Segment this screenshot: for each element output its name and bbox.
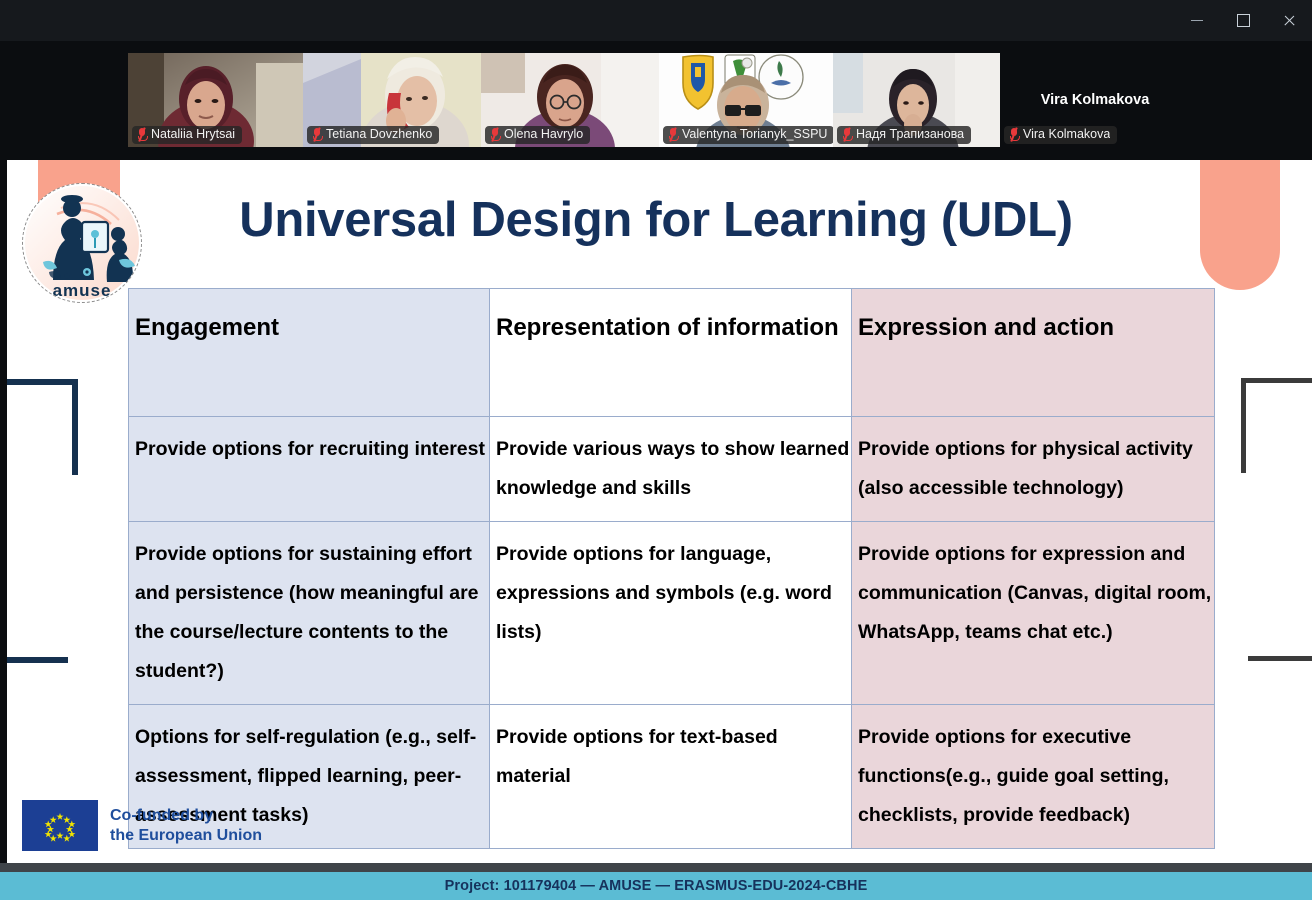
slide-footer-bar: Project: 101179404 — AMUSE — ERASMUS-EDU…: [0, 872, 1312, 900]
table-header-row: Engagement Representation of information…: [129, 289, 1215, 417]
participant-name: Valentyna Torianyk_SSPU: [682, 127, 827, 142]
participant-name-chip: Nataliia Hrytsai: [132, 126, 242, 144]
shared-slide: amuse Universal Design for Learning (UDL…: [0, 160, 1312, 863]
funding-text: Co-funded by the European Union: [110, 806, 262, 846]
decor-line-left: [0, 657, 68, 663]
mic-muted-icon: [490, 128, 500, 141]
participant-name-chip: Valentyna Torianyk_SSPU: [663, 126, 833, 144]
table-cell: Provide options for sustaining effort an…: [129, 522, 490, 705]
mic-muted-icon: [137, 128, 147, 141]
participant-filmstrip: Nataliia Hrytsai: [0, 41, 1312, 160]
decor-bracket-right: [1241, 378, 1312, 473]
table-cell: Provide options for executive functions(…: [852, 705, 1215, 849]
table-header-cell: Engagement: [129, 289, 490, 417]
decor-bracket-left: [0, 379, 78, 475]
mic-muted-icon: [668, 128, 678, 141]
table-cell: Provide options for recruiting interest: [129, 417, 490, 522]
table-header-cell: Representation of information: [490, 289, 852, 417]
participant-tile[interactable]: Надя Трапизанова: [833, 53, 1000, 147]
table-cell: Provide options for language, expression…: [490, 522, 852, 705]
table-header-cell: Expression and action: [852, 289, 1215, 417]
table-cell: Provide options for text-based material: [490, 705, 852, 849]
participant-name-chip: Olena Havrylo: [485, 126, 590, 144]
udl-table: Engagement Representation of information…: [128, 288, 1215, 849]
eu-funding-statement: Co-funded by the European Union: [22, 800, 262, 851]
table-cell: Provide various ways to show learned kno…: [490, 417, 852, 522]
table-cell: Provide options for physical activity (a…: [852, 417, 1215, 522]
close-icon: [1283, 14, 1296, 27]
participant-tile-self[interactable]: Vira Kolmakova Vira Kolmakova: [1000, 53, 1182, 147]
participant-tile[interactable]: Nataliia Hrytsai: [128, 53, 303, 147]
table-cell: Provide options for expression and commu…: [852, 522, 1215, 705]
funding-line-2: the European Union: [110, 826, 262, 846]
project-reference: Project: 101179404 — AMUSE — ERASMUS-EDU…: [445, 878, 868, 894]
participant-name-chip: Tetiana Dovzhenko: [307, 126, 439, 144]
table-row: Provide options for recruiting interest …: [129, 417, 1215, 522]
participant-tile[interactable]: Tetiana Dovzhenko: [303, 53, 481, 147]
eu-flag-icon: [22, 800, 98, 851]
funding-line-1: Co-funded by: [110, 806, 262, 826]
participant-tiles: Nataliia Hrytsai: [128, 53, 1182, 147]
participant-name: Vira Kolmakova: [1023, 127, 1110, 142]
participant-name: Olena Havrylo: [504, 127, 583, 142]
zoom-meeting-window: Nataliia Hrytsai: [0, 0, 1312, 900]
mic-muted-icon: [842, 128, 852, 141]
participant-name-chip: Vira Kolmakova: [1004, 126, 1117, 144]
participant-name: Tetiana Dovzhenko: [326, 127, 432, 142]
minimize-button[interactable]: [1174, 0, 1220, 41]
table-row: Options for self-regulation (e.g., self-…: [129, 705, 1215, 849]
participant-tile[interactable]: Olena Havrylo: [481, 53, 659, 147]
participant-tile[interactable]: Valentyna Torianyk_SSPU: [659, 53, 833, 147]
maximize-icon: [1237, 14, 1250, 27]
svg-text:amuse: amuse: [53, 281, 112, 300]
participant-name-chip: Надя Трапизанова: [837, 126, 971, 144]
page-title: Universal Design for Learning (UDL): [0, 192, 1312, 248]
mic-muted-icon: [1009, 128, 1019, 141]
decor-line-right: [1248, 656, 1312, 661]
window-left-edge: [0, 160, 7, 900]
close-button[interactable]: [1266, 0, 1312, 41]
window-title-bar: [0, 0, 1312, 41]
participant-name: Надя Трапизанова: [856, 127, 964, 142]
table-row: Provide options for sustaining effort an…: [129, 522, 1215, 705]
participant-name: Nataliia Hrytsai: [151, 127, 235, 142]
footer-separator: [0, 863, 1312, 872]
maximize-button[interactable]: [1220, 0, 1266, 41]
minimize-icon: [1191, 20, 1203, 21]
mic-muted-icon: [312, 128, 322, 141]
